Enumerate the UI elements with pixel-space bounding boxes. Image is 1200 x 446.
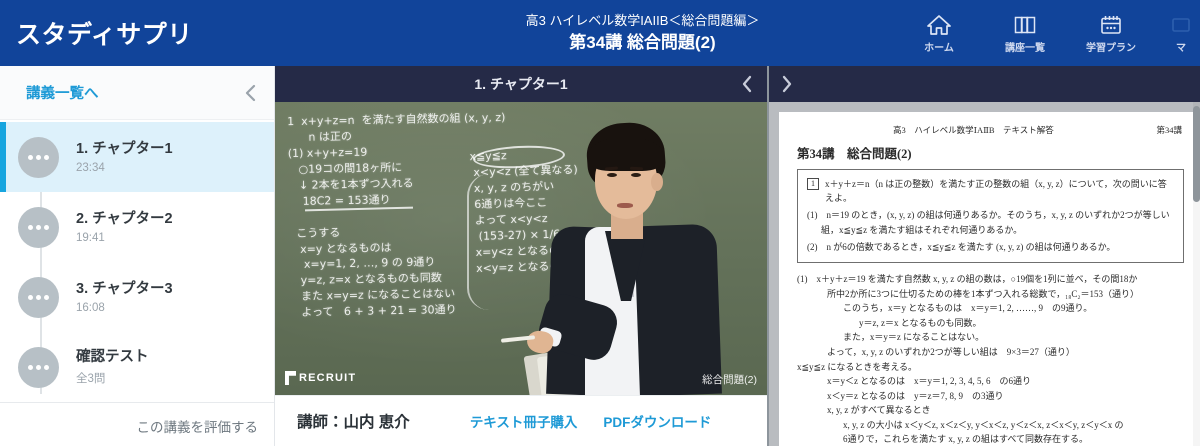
- books-icon: [1013, 12, 1037, 36]
- pdf-heading: 第34講 総合問題(2): [797, 143, 1184, 162]
- problem-number-badge: 1: [807, 178, 819, 190]
- chapter-1-title: 1. チャプター1: [76, 141, 173, 157]
- pdf-problem-item-2: (2) n が6の倍数であるとき，x≦y≦z を満たす (x, y, z) の組…: [807, 240, 1174, 254]
- video-corner-label: 総合問題(2): [702, 372, 757, 387]
- recruit-watermark: RECRUIT: [285, 371, 356, 385]
- nav-label-course-list: 講座一覧: [1005, 39, 1045, 54]
- pdf-solution-line: x, y, z がすべて異なるとき: [797, 403, 1184, 418]
- pdf-runhead-center: 高3 ハイレベル数学ⅠAⅡB テキスト解答: [893, 124, 1054, 136]
- pdf-solution-line: よって，x, y, z のいずれか2つが等しい組は 9×3＝27（通り）: [797, 345, 1184, 360]
- instructor-figure: [533, 123, 733, 395]
- pdf-solution-line: x＝y＜z となるのは x＝y＝1, 2, 3, 4, 5, 6 の6通り: [797, 374, 1184, 389]
- rate-lecture-link[interactable]: この講義を評価する: [137, 416, 259, 436]
- pdf-problem-stem: x＋y＋z＝n（n は正の整数）を満たす正の整数の組（x, y, z）について，…: [825, 177, 1174, 205]
- pdf-solution-line: x≦y≦z になるときを考える。: [797, 360, 1184, 375]
- pdf-scroll-area[interactable]: 高3 ハイレベル数学ⅠAⅡB テキスト解答 第34講 第34講 総合問題(2) …: [769, 102, 1200, 446]
- confirmation-test-meta: 全3問: [76, 370, 149, 386]
- pdf-running-head: 高3 ハイレベル数学ⅠAⅡB テキスト解答 第34講: [797, 124, 1184, 136]
- chapter-3-text: 3. チャプター3 16:08: [59, 280, 173, 314]
- chapter-2-duration: 19:41: [76, 232, 173, 244]
- nav-label-overflow: マ: [1176, 39, 1186, 54]
- pdf-solution-line: 所中2か所に3つに仕切るための棒を1本ずつ入れる総数で，₁₈C₂＝153（通り）: [797, 287, 1184, 302]
- chapter-1-text: 1. チャプター1 23:34: [59, 140, 173, 174]
- pdf-solution-line: x＜y＝z となるのは y＝z＝7, 8, 9 の3通り: [797, 389, 1184, 404]
- sidebar-item-chapter-3[interactable]: 3. チャプター3 16:08: [0, 262, 274, 332]
- pdf-solution-line: (1) x＋y＋z＝19 を満たす自然数 x, y, z の組の数は，○19個を…: [797, 272, 1184, 287]
- home-icon: [927, 12, 951, 36]
- nav-item-study-plan[interactable]: 学習プラン: [1080, 12, 1142, 54]
- mouth: [617, 203, 633, 208]
- brand-area[interactable]: スタディサプリ: [0, 0, 275, 66]
- page-title: 第34講 総合問題(2): [275, 32, 1010, 53]
- video-player-stage[interactable]: 1 x+y+z=n を満たす自然数の組 (x, y, z) n は正の (1) …: [275, 102, 767, 395]
- chapter-sidebar: 講義一覧へ 1. チャプター1 23:34 2. チャプター2: [0, 66, 275, 446]
- video-chapter-title: 1. チャプター1: [474, 74, 567, 94]
- pdf-problem-item-1: (1) n＝19 のとき，(x, y, z) の組は何通りあるか。そのうち，x,…: [807, 208, 1174, 236]
- confirmation-test-text: 確認テスト 全3問: [59, 348, 149, 386]
- pdf-solution-line: y＝z, z＝x となるものも同数。: [797, 316, 1184, 331]
- chapter-2-title: 2. チャプター2: [76, 211, 173, 227]
- jacket-right: [634, 224, 722, 395]
- hair-front: [589, 137, 663, 171]
- chapter-3-title: 3. チャプター3: [76, 281, 173, 297]
- pdf-header-bar: [769, 66, 1200, 102]
- buy-textbook-link[interactable]: テキスト冊子購入: [470, 411, 578, 431]
- sidebar-item-confirmation-test[interactable]: 確認テスト 全3問: [0, 332, 274, 402]
- dots-icon: [18, 347, 59, 388]
- top-header-bar: スタディサプリ 高3 ハイレベル数学IAIIB＜総合問題編＞ 第34講 総合問題…: [0, 0, 1200, 66]
- lecture-player-app: スタディサプリ 高3 ハイレベル数学IAIIB＜総合問題編＞ 第34講 総合問題…: [0, 0, 1200, 446]
- sidebar-item-chapter-1[interactable]: 1. チャプター1 23:34: [0, 122, 274, 192]
- chapter-1-duration: 23:34: [76, 162, 173, 174]
- chapter-list: 1. チャプター1 23:34 2. チャプター2 19:41 3. チャプター…: [0, 120, 274, 402]
- pdf-viewer-panel: 高3 ハイレベル数学ⅠAⅡB テキスト解答 第34講 第34講 総合問題(2) …: [767, 66, 1200, 446]
- eyebrow-right: [630, 167, 643, 171]
- nav-item-overflow[interactable]: マ: [1166, 12, 1196, 54]
- calendar-icon: [1099, 12, 1123, 36]
- course-subtitle: 高3 ハイレベル数学IAIIB＜総合問題編＞: [275, 13, 1010, 29]
- pdf-download-link[interactable]: PDFダウンロード: [603, 411, 711, 431]
- pdf-solution-line: また，x＝y＝z になることはない。: [797, 330, 1184, 345]
- chevron-left-icon[interactable]: [739, 66, 755, 102]
- pdf-scrollbar-track[interactable]: [1193, 102, 1200, 446]
- eye-right: [631, 173, 641, 177]
- chapter-2-text: 2. チャプター2 19:41: [59, 210, 173, 244]
- pdf-scrollbar-thumb[interactable]: [1193, 106, 1200, 202]
- pdf-runhead-right: 第34講: [1156, 124, 1182, 136]
- ear: [651, 173, 663, 191]
- pdf-problem-box: 1 x＋y＋z＝n（n は正の整数）を満たす正の整数の組（x, y, z）につい…: [797, 169, 1184, 263]
- nav-label-study-plan: 学習プラン: [1086, 39, 1136, 54]
- video-panel: 1. チャプター1 1 x+y+z=n を満たす自然数の組 (x, y, z) …: [275, 66, 767, 446]
- clipped-icon: [1169, 12, 1193, 36]
- eye-left: [607, 173, 617, 177]
- chevron-right-icon[interactable]: [779, 66, 795, 102]
- nav-label-home: ホーム: [924, 39, 954, 54]
- confirmation-test-title: 確認テスト: [76, 349, 149, 365]
- nav-item-course-list[interactable]: 講座一覧: [994, 12, 1056, 54]
- dots-icon: [18, 137, 59, 178]
- studysapuri-logo: スタディサプリ: [16, 15, 193, 51]
- chevron-left-icon[interactable]: [242, 81, 260, 105]
- pdf-solution-line: このうち，x＝y となるものは x＝y＝1, 2, ……, 9 の9通り。: [797, 301, 1184, 316]
- video-header-bar: 1. チャプター1: [275, 66, 767, 102]
- chapter-3-duration: 16:08: [76, 302, 173, 314]
- nav-item-home[interactable]: ホーム: [908, 12, 970, 54]
- sidebar-item-chapter-2[interactable]: 2. チャプター2 19:41: [0, 192, 274, 262]
- video-footer-bar: 講師：山内 恵介 テキスト冊子購入 PDFダウンロード: [275, 395, 767, 446]
- pdf-solution-line: x, y, z の大小は x＜y＜z, x＜z＜y, y＜x＜z, y＜z＜x,…: [797, 418, 1184, 433]
- global-nav: ホーム 講座一覧: [908, 0, 1200, 66]
- pdf-page: 高3 ハイレベル数学ⅠAⅡB テキスト解答 第34講 第34講 総合問題(2) …: [779, 112, 1200, 446]
- recruit-logo-icon: [285, 371, 296, 385]
- back-to-lecture-list-link[interactable]: 講義一覧へ: [26, 82, 99, 103]
- video-footer-links: テキスト冊子購入 PDFダウンロード: [470, 411, 712, 431]
- sidebar-header: 講義一覧へ: [0, 66, 274, 120]
- recruit-wordmark: RECRUIT: [299, 372, 356, 384]
- instructor-name: 講師：山内 恵介: [297, 410, 410, 432]
- sidebar-footer: この講義を評価する: [0, 402, 274, 446]
- dots-icon: [18, 277, 59, 318]
- pdf-problem-stem-row: 1 x＋y＋z＝n（n は正の整数）を満たす正の整数の組（x, y, z）につい…: [807, 177, 1174, 205]
- pdf-solution-line: 6通りで，これらを満たす x, y, z の組はすべて同数存在する。: [797, 432, 1184, 446]
- dots-icon: [18, 207, 59, 248]
